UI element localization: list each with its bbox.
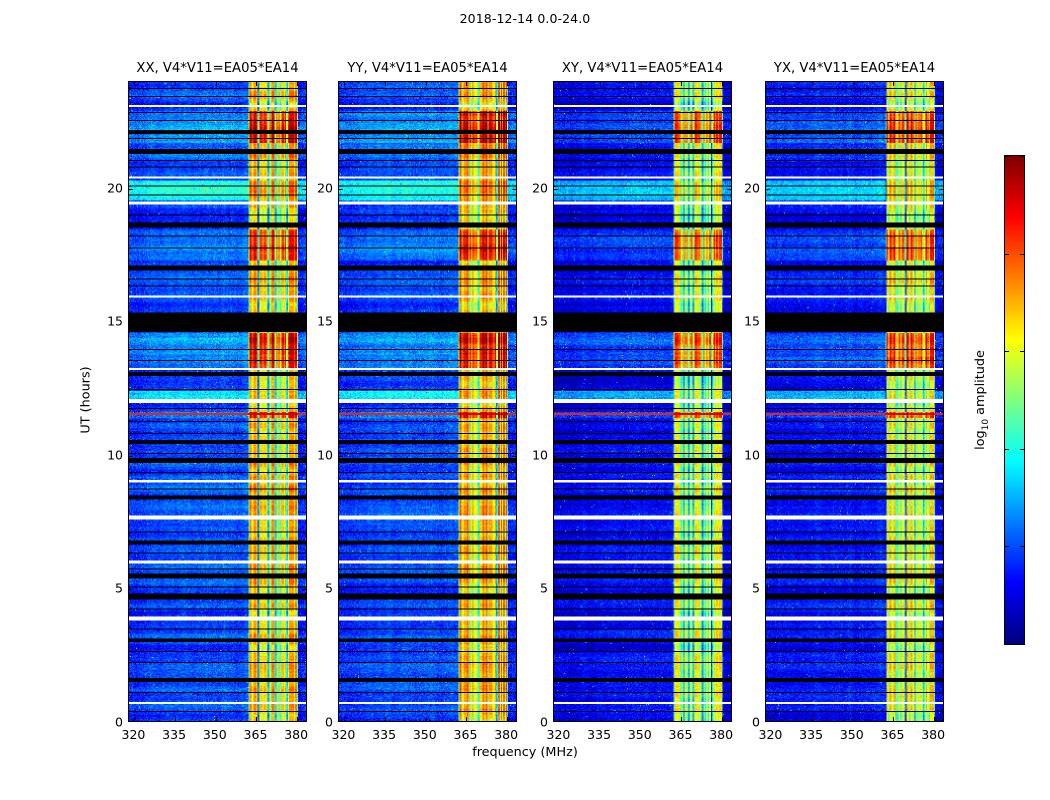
x-tick-mark [893,717,894,721]
x-tick-mark [893,82,894,86]
x-tick-mark [771,717,772,721]
figure-suptitle: 2018-12-14 0.0-24.0 [0,11,1050,26]
panel-title-yx: YX, V4*V11=EA05*EA14 [774,61,935,76]
x-tick-label: 380 [709,727,733,742]
x-tick-mark [385,717,386,721]
x-tick-mark [426,82,427,86]
x-tick-mark [812,717,813,721]
x-tick-mark [681,82,682,86]
x-tick-label: 335 [372,727,396,742]
x-tick-mark [134,82,135,86]
x-axis-label: frequency (MHz) [0,745,1050,760]
x-tick-mark [934,82,935,86]
colorbar-tick-mark [1005,156,1009,157]
panel-yx: YX, V4*V11=EA05*EA14 3203353503653800510… [765,81,944,722]
y-tick-label: 5 [325,581,333,596]
y-tick-label: 15 [532,314,548,329]
x-tick-label: 380 [921,727,945,742]
y-tick-label: 10 [532,447,548,462]
panel-title-xx: XX, V4*V11=EA05*EA14 [136,61,298,76]
panel-title-yy: YY, V4*V11=EA05*EA14 [347,61,507,76]
y-tick-mark [727,189,731,190]
y-tick-label: 0 [752,715,760,730]
colorbar-tick-mark [1020,644,1024,645]
y-tick-label: 0 [325,715,333,730]
x-tick-mark [934,717,935,721]
y-tick-mark [512,589,516,590]
y-tick-label: 20 [532,180,548,195]
x-tick-mark [344,82,345,86]
panel-yy: YY, V4*V11=EA05*EA14 3203353503653800510… [338,81,517,722]
y-tick-mark [302,322,306,323]
y-tick-mark [727,589,731,590]
y-tick-label: 20 [317,180,333,195]
x-tick-mark [722,717,723,721]
x-tick-label: 365 [881,727,905,742]
colorbar-tick-mark [1005,351,1009,352]
x-tick-mark [175,717,176,721]
x-tick-label: 365 [669,727,693,742]
y-tick-label: 20 [744,180,760,195]
y-tick-mark [339,189,343,190]
x-tick-label: 380 [494,727,518,742]
x-tick-mark [256,82,257,86]
y-tick-label: 15 [317,314,333,329]
x-tick-label: 320 [331,727,355,742]
colorbar-tick-mark [1020,449,1024,450]
waterfall-yy [339,82,516,721]
x-tick-label: 335 [162,727,186,742]
x-tick-mark [134,717,135,721]
x-tick-label: 320 [121,727,145,742]
y-tick-mark [339,322,343,323]
colorbar-tick-mark [1020,156,1024,157]
waterfall-yx [766,82,943,721]
x-tick-mark [297,717,298,721]
x-tick-label: 335 [587,727,611,742]
x-tick-mark [681,717,682,721]
y-tick-mark [554,322,558,323]
x-tick-mark [641,717,642,721]
y-tick-mark [766,589,770,590]
y-axis-label: UT (hours) [79,366,94,433]
x-tick-label: 320 [758,727,782,742]
axes-yy[interactable] [338,81,517,722]
colorbar-tick-mark [1020,351,1024,352]
x-tick-mark [600,717,601,721]
x-tick-mark [722,82,723,86]
y-tick-mark [766,189,770,190]
waterfall-xx [129,82,306,721]
y-tick-mark [766,322,770,323]
y-tick-mark [302,456,306,457]
x-tick-label: 380 [284,727,308,742]
y-tick-label: 5 [540,581,548,596]
axes-xx[interactable] [128,81,307,722]
y-tick-mark [727,456,731,457]
y-tick-mark [554,589,558,590]
axes-yx[interactable] [765,81,944,722]
y-tick-label: 10 [317,447,333,462]
colorbar-tick-mark [1005,254,1009,255]
y-tick-label: 0 [540,715,548,730]
y-tick-label: 10 [107,447,123,462]
x-tick-mark [175,82,176,86]
x-tick-mark [600,82,601,86]
axes-xy[interactable] [553,81,732,722]
y-tick-mark [339,456,343,457]
x-tick-mark [216,82,217,86]
x-tick-label: 320 [546,727,570,742]
y-tick-mark [939,322,943,323]
y-tick-label: 0 [115,715,123,730]
y-tick-mark [766,456,770,457]
x-tick-label: 350 [203,727,227,742]
y-tick-mark [554,189,558,190]
x-tick-label: 350 [413,727,437,742]
y-tick-mark [939,456,943,457]
colorbar-tick-mark [1020,546,1024,547]
x-tick-mark [507,717,508,721]
y-tick-mark [939,189,943,190]
y-tick-mark [554,456,558,457]
x-tick-label: 365 [454,727,478,742]
colorbar-label: log10 amplitude [973,350,991,450]
x-tick-label: 350 [628,727,652,742]
waterfall-xy [554,82,731,721]
colorbar-tick-mark [1005,449,1009,450]
y-tick-mark [512,322,516,323]
x-tick-label: 365 [244,727,268,742]
y-tick-mark [129,189,133,190]
y-tick-mark [939,589,943,590]
x-tick-mark [466,82,467,86]
y-tick-mark [129,589,133,590]
x-tick-label: 350 [840,727,864,742]
x-tick-mark [812,82,813,86]
y-tick-mark [727,322,731,323]
x-tick-mark [853,82,854,86]
y-tick-mark [129,322,133,323]
y-tick-label: 20 [107,180,123,195]
panel-title-xy: XY, V4*V11=EA05*EA14 [562,61,723,76]
x-tick-mark [216,717,217,721]
colorbar-label-text: log10 amplitude [973,350,988,450]
y-tick-mark [302,589,306,590]
x-tick-mark [297,82,298,86]
x-tick-mark [559,717,560,721]
x-tick-mark [507,82,508,86]
y-tick-label: 5 [752,581,760,596]
y-tick-mark [512,456,516,457]
y-tick-mark [302,189,306,190]
x-tick-label: 335 [799,727,823,742]
x-tick-mark [466,717,467,721]
x-tick-mark [559,82,560,86]
y-tick-mark [129,456,133,457]
y-tick-mark [512,189,516,190]
y-tick-label: 15 [744,314,760,329]
colorbar[interactable]: -4-3-2-101 [1004,155,1025,645]
x-tick-mark [385,82,386,86]
colorbar-tick-mark [1005,546,1009,547]
y-tick-label: 15 [107,314,123,329]
x-tick-mark [641,82,642,86]
panel-xy: XY, V4*V11=EA05*EA14 3203353503653800510… [553,81,732,722]
colorbar-tick-mark [1005,644,1009,645]
y-tick-label: 5 [115,581,123,596]
panel-xx: XX, V4*V11=EA05*EA14 3203353503653800510… [128,81,307,722]
x-tick-mark [256,717,257,721]
x-tick-mark [771,82,772,86]
x-tick-mark [853,717,854,721]
x-tick-mark [426,717,427,721]
y-tick-mark [339,589,343,590]
y-tick-label: 10 [744,447,760,462]
x-tick-mark [344,717,345,721]
colorbar-tick-mark [1020,254,1024,255]
